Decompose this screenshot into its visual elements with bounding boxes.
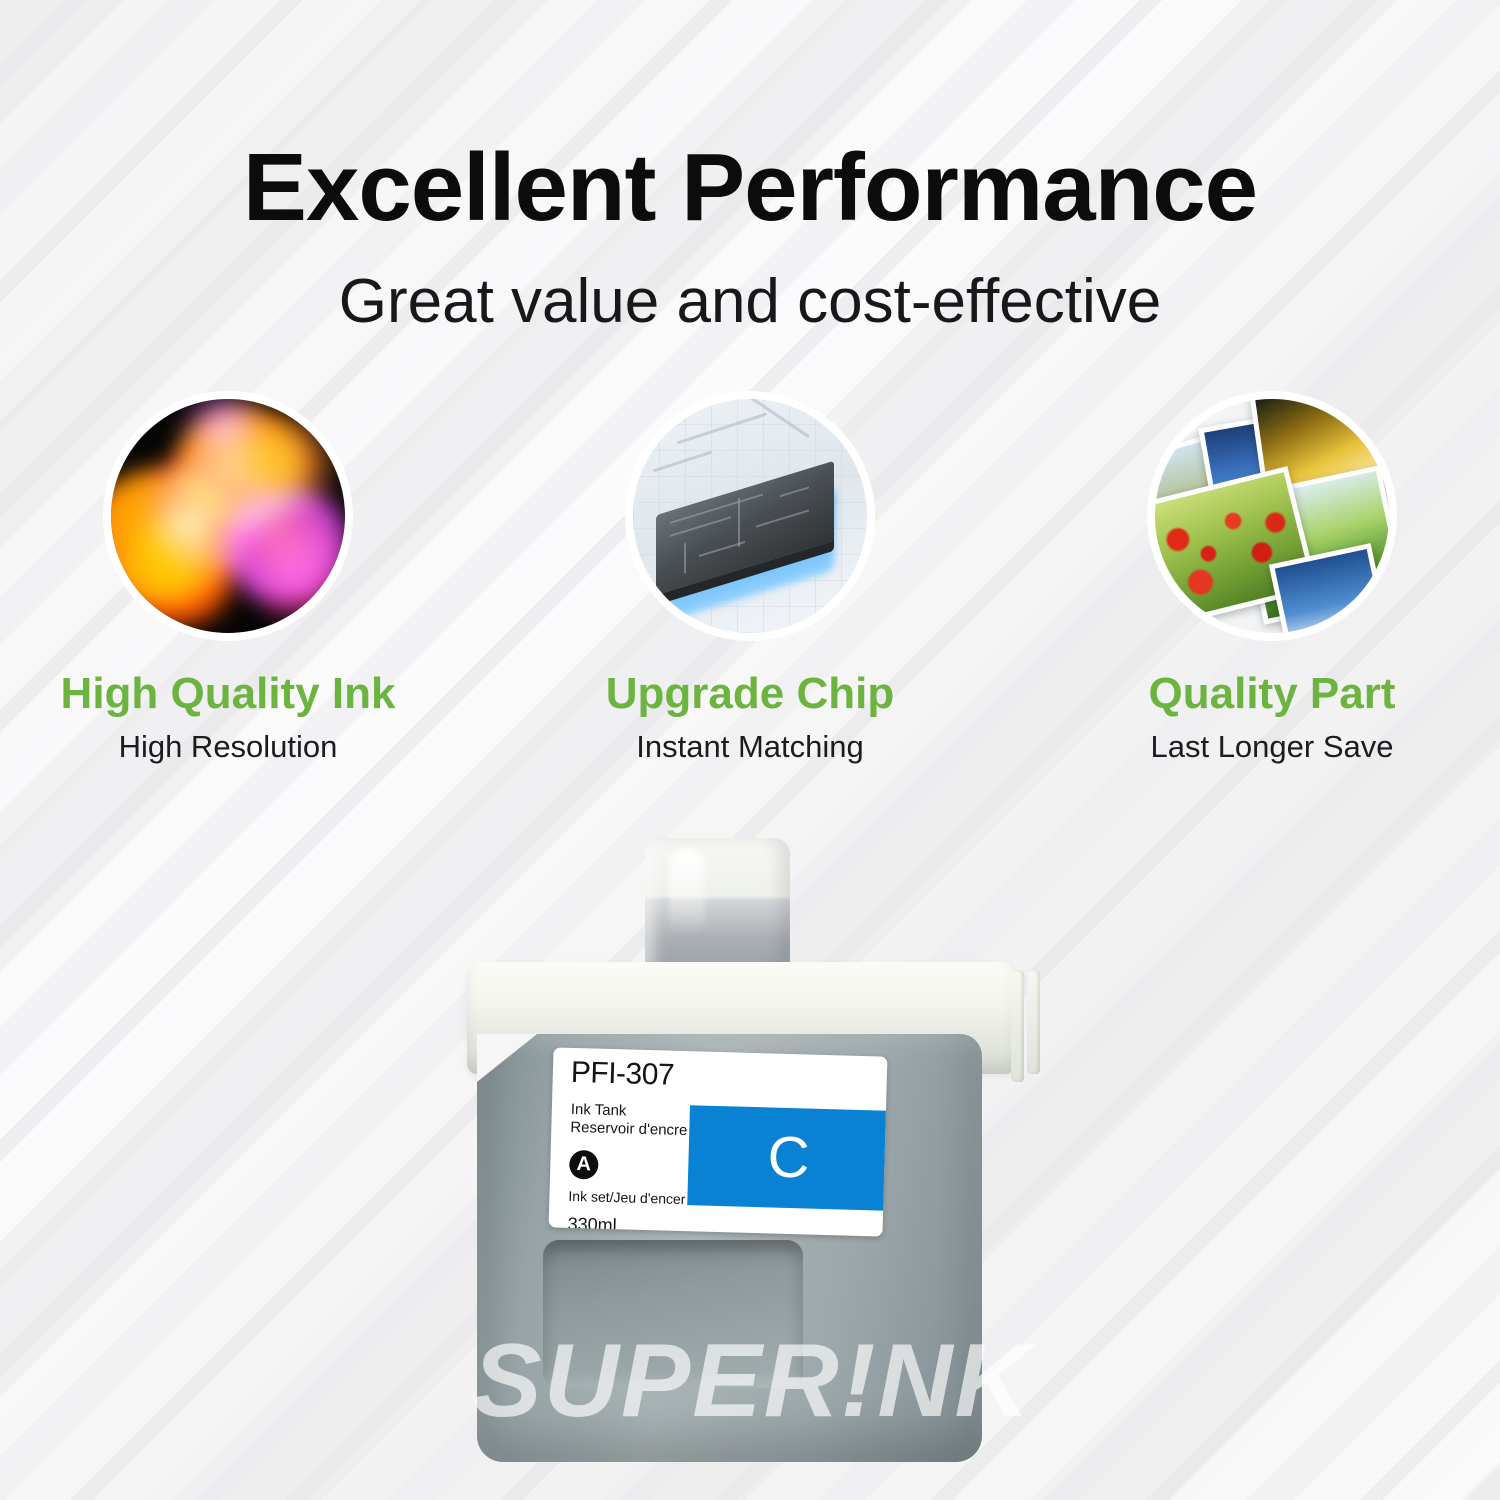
cap-rib: [1027, 970, 1040, 1074]
feature-subtitle: Instant Matching: [636, 730, 863, 764]
feature-image-frame: [104, 392, 352, 640]
cartridge-grip-recess: [543, 1240, 803, 1388]
feature-title: Upgrade Chip: [606, 670, 894, 718]
microchip-icon: [633, 399, 867, 633]
feature-high-quality-ink: High Quality Ink High Resolution: [78, 392, 378, 764]
label-model-number: PFI-307: [570, 1056, 674, 1093]
nozzle-highlight: [669, 848, 705, 936]
feature-subtitle: Last Longer Save: [1150, 730, 1393, 764]
feature-image-frame: [1148, 392, 1396, 640]
cap-rib: [1011, 970, 1024, 1082]
page-title: Excellent Performance: [0, 138, 1500, 239]
feature-upgrade-chip: Upgrade Chip Instant Matching: [600, 392, 900, 764]
feature-row: High Quality Ink High Resolution: [0, 392, 1500, 764]
feature-quality-part: Quality Part Last Longer Save: [1122, 392, 1422, 764]
ink-splash-icon: [111, 399, 345, 633]
feature-title: High Quality Ink: [61, 670, 396, 718]
ink-color-swatch: C: [687, 1105, 887, 1211]
feature-title: Quality Part: [1149, 670, 1396, 718]
printed-photos-icon: [1155, 399, 1389, 633]
ink-color-letter: C: [767, 1128, 810, 1187]
label-ink-set-caption: Ink set/Jeu d'encer: [568, 1188, 685, 1207]
product-label: PFI-307 Ink Tank Reservoir d'encre A Ink…: [549, 1047, 888, 1236]
feature-image-frame: [626, 392, 874, 640]
product-marketing-image: Excellent Performance Great value and co…: [0, 0, 1500, 1500]
cartridge-nozzle: [645, 838, 790, 970]
ink-cartridge-product-image: PFI-307 Ink Tank Reservoir d'encre A Ink…: [455, 830, 1045, 1470]
ink-set-badge: A: [569, 1150, 599, 1180]
page-subtitle: Great value and cost-effective: [0, 268, 1500, 336]
feature-subtitle: High Resolution: [119, 730, 338, 764]
label-type-french: Reservoir d'encre: [570, 1118, 688, 1141]
